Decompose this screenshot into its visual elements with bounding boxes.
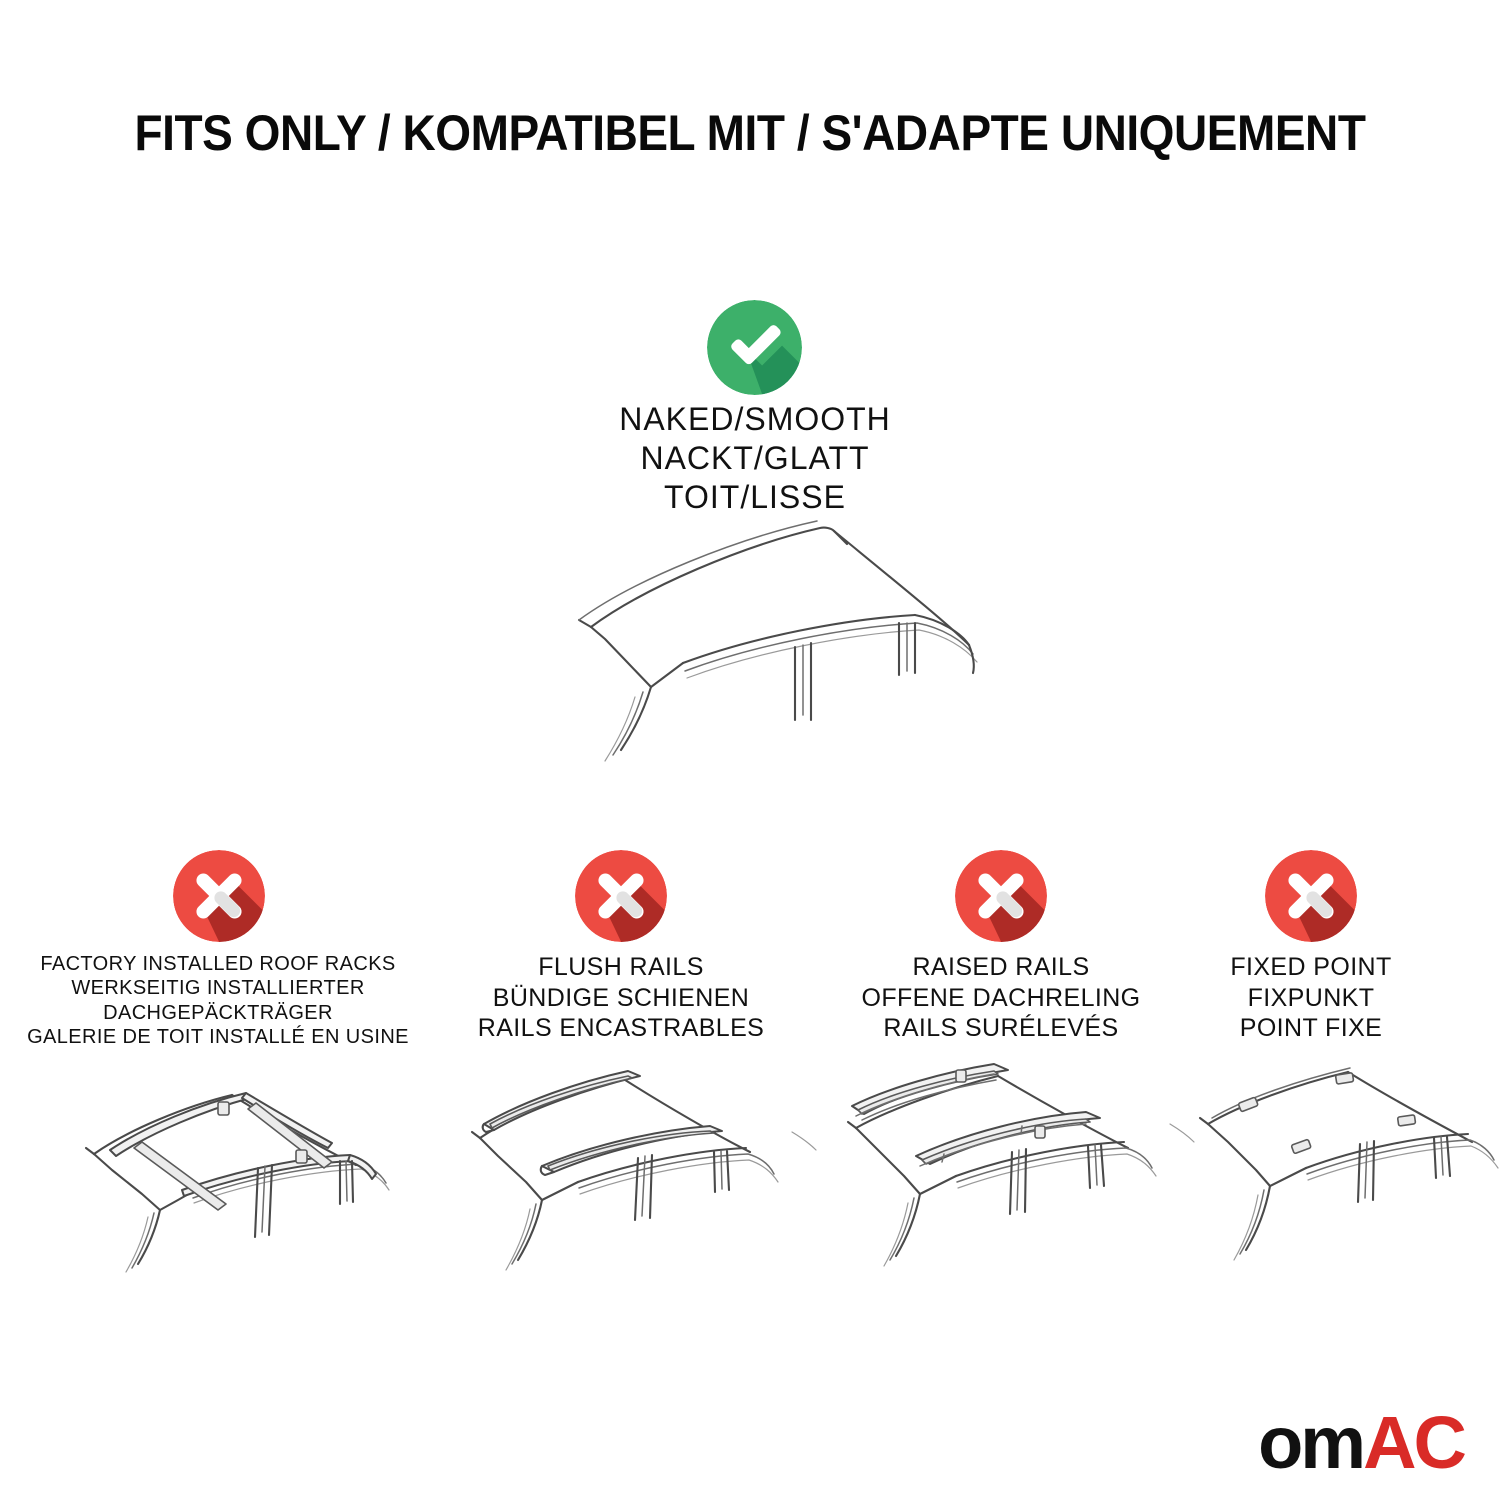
flush-rails-roof-illustration [442, 1062, 822, 1282]
caption-line-4: GALERIE DE TOIT INSTALLÉ EN USINE [18, 1025, 418, 1049]
naked-smooth-roof-illustration [495, 515, 1015, 805]
caption-line-2: WERKSEITIG INSTALLIERTER [18, 976, 418, 1000]
caption-line-3: DACHGEPÄCKTRÄGER [18, 1001, 418, 1025]
incompatible-caption-factory-installed-roof-racks: FACTORY INSTALLED ROOF RACKS WERKSEITIG … [18, 952, 418, 1050]
omac-logo: om AC [1258, 1413, 1464, 1472]
caption-line-1: FIXED POINT [1161, 952, 1461, 983]
check-circle-icon [707, 300, 802, 395]
logo-text-om: om [1258, 1413, 1363, 1472]
raised-rails-roof-illustration [822, 1062, 1202, 1282]
compatible-line-2: NACKT/GLATT [535, 439, 975, 478]
caption-line-1: RAISED RAILS [826, 952, 1176, 983]
cross-circle-icon [173, 850, 265, 942]
compatible-caption: NAKED/SMOOTH NACKT/GLATT TOIT/LISSE [535, 400, 975, 517]
caption-line-1: FACTORY INSTALLED ROOF RACKS [18, 952, 418, 976]
cross-circle-icon [955, 850, 1047, 942]
cross-circle-icon [1265, 850, 1357, 942]
page-title: FITS ONLY / KOMPATIBEL MIT / S'ADAPTE UN… [60, 104, 1440, 162]
fixed-point-roof-illustration [1182, 1062, 1500, 1282]
cross-circle-icon [575, 850, 667, 942]
compatible-line-3: TOIT/LISSE [535, 478, 975, 517]
caption-line-2: BÜNDIGE SCHIENEN [446, 983, 796, 1014]
compatible-line-1: NAKED/SMOOTH [535, 400, 975, 439]
caption-line-3: RAILS ENCASTRABLES [446, 1013, 796, 1044]
incompatible-caption-flush-rails: FLUSH RAILS BÜNDIGE SCHIENEN RAILS ENCAS… [446, 952, 796, 1044]
caption-line-3: RAILS SURÉLEVÉS [826, 1013, 1176, 1044]
caption-line-1: FLUSH RAILS [446, 952, 796, 983]
incompatible-caption-fixed-point: FIXED POINT FIXPUNKT POINT FIXE [1161, 952, 1461, 1044]
caption-line-2: OFFENE DACHRELING [826, 983, 1176, 1014]
incompatible-caption-raised-rails: RAISED RAILS OFFENE DACHRELING RAILS SUR… [826, 952, 1176, 1044]
logo-text-ac: AC [1363, 1413, 1464, 1472]
factory-roof-rack-illustration [50, 1062, 430, 1282]
caption-line-2: FIXPUNKT [1161, 983, 1461, 1014]
caption-line-3: POINT FIXE [1161, 1013, 1461, 1044]
